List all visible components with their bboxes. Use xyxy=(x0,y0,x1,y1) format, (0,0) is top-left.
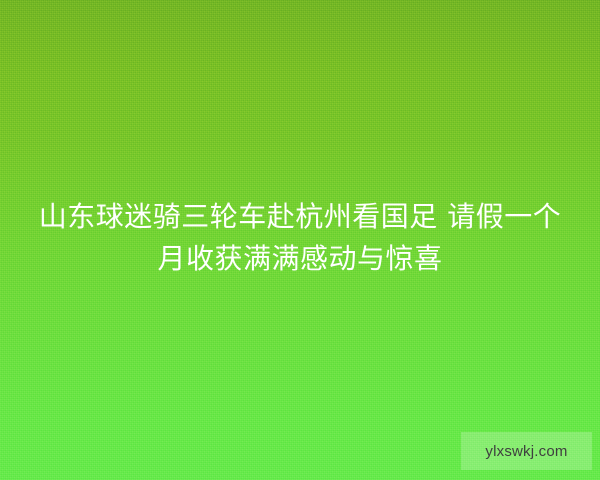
top-shade-overlay xyxy=(0,0,600,150)
watermark-badge: ylxswkj.com xyxy=(461,432,592,470)
headline-text: 山东球迷骑三轮车赴杭州看国足 请假一个月收获满满感动与惊喜 xyxy=(0,196,600,280)
watermark-text: ylxswkj.com xyxy=(485,444,567,459)
image-canvas: 山东球迷骑三轮车赴杭州看国足 请假一个月收获满满感动与惊喜 ylxswkj.co… xyxy=(0,0,600,480)
